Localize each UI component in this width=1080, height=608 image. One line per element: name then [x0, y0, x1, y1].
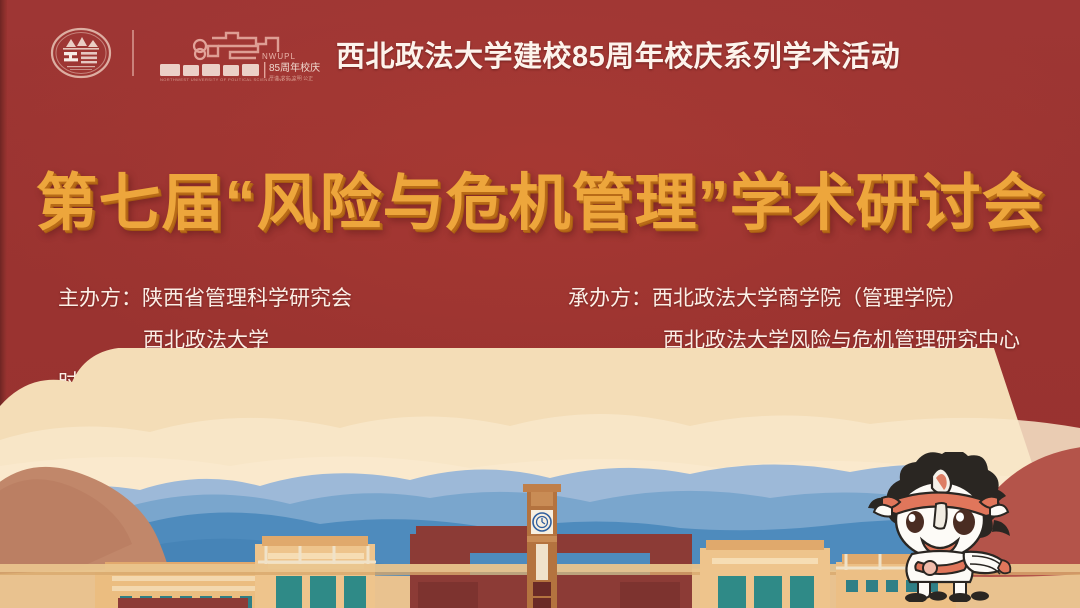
clock-tower-icon	[523, 484, 561, 608]
host-value-1: 西北政法大学商学院（管理学院）	[652, 287, 967, 310]
mascot-eye-left	[906, 511, 924, 533]
svg-text:85周年校庆: 85周年校庆	[269, 61, 320, 74]
header-title: 西北政法大学建校85周年校庆系列学术活动	[336, 33, 900, 75]
page-title: 第七届“风险与危机管理”学术研讨会	[0, 152, 1080, 242]
poster-root: NWUPL 85周年校庆 NORTHWEST UNIVERSITY OF POL…	[0, 0, 1080, 608]
header-logos: NWUPL 85周年校庆 NORTHWEST UNIVERSITY OF POL…	[50, 22, 324, 84]
organizer-label: 主办方：	[58, 287, 142, 310]
host-label: 承办方：	[568, 287, 652, 310]
organizer-value-1: 陕西省管理科学研究会	[142, 287, 352, 310]
organizer-row: 主办方：陕西省管理科学研究会	[58, 278, 528, 320]
host-row: 承办方：西北政法大学商学院（管理学院）	[568, 278, 1058, 320]
mascot-xiezhi-icon	[852, 452, 1042, 602]
mascot-eye-right	[953, 509, 975, 535]
university-seal-icon	[50, 27, 112, 79]
foreground-roof	[118, 598, 248, 608]
svg-text:NWUPL: NWUPL	[262, 52, 296, 61]
anniversary-wordmark: NWUPL 85周年校庆 NORTHWEST UNIVERSITY OF POL…	[154, 24, 324, 82]
svg-text:严谨 求实 文明 公正: 严谨 求实 文明 公正	[269, 75, 313, 82]
mascot-wing	[964, 552, 1011, 574]
header-divider-icon	[132, 30, 134, 76]
mascot-legs	[905, 582, 989, 602]
